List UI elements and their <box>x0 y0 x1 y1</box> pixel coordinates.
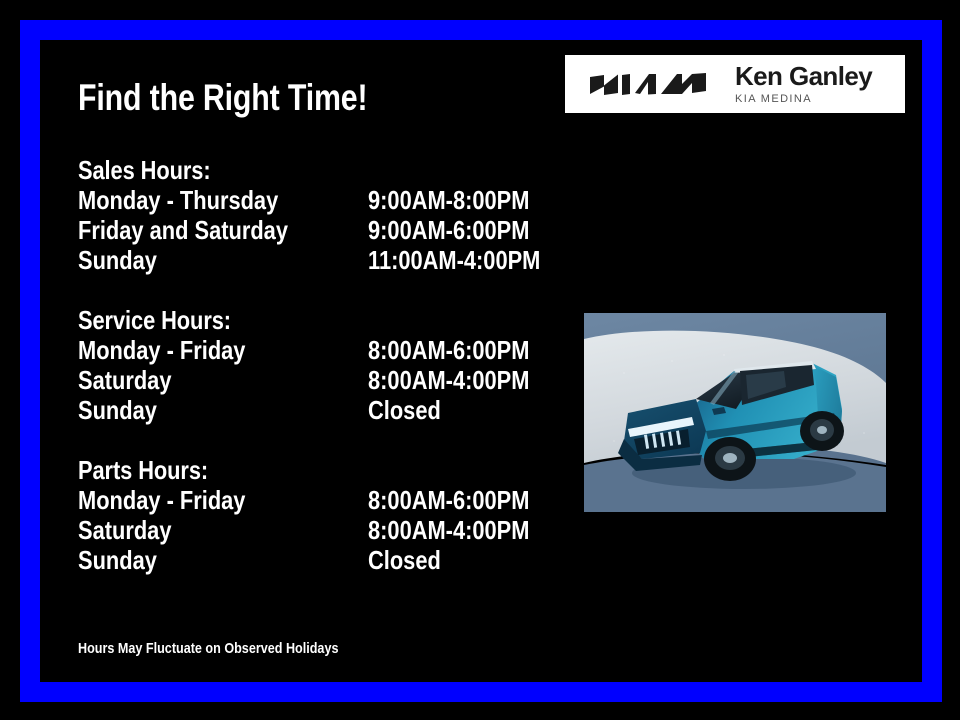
hours-row-value: 8:00AM-4:00PM <box>368 515 529 545</box>
hours-row: Saturday 8:00AM-4:00PM <box>78 515 578 545</box>
hours-row-label: Sunday <box>78 245 157 275</box>
hours-row-label: Saturday <box>78 365 171 395</box>
hours-row-label: Monday - Friday <box>78 485 245 515</box>
hours-row-value: Closed <box>368 545 441 575</box>
hours-row: Monday - Friday 8:00AM-6:00PM <box>78 485 578 515</box>
hours-row-value: 8:00AM-4:00PM <box>368 365 529 395</box>
hours-block-heading: Parts Hours: <box>78 455 498 485</box>
holiday-disclaimer: Hours May Fluctuate on Observed Holidays <box>78 640 338 658</box>
hours-row: Monday - Friday 8:00AM-6:00PM <box>78 335 578 365</box>
hours-row-label: Sunday <box>78 395 157 425</box>
hours-row: Friday and Saturday 9:00AM-6:00PM <box>78 215 578 245</box>
hours-row: Saturday 8:00AM-4:00PM <box>78 365 578 395</box>
dealer-name-group: Ken Ganley KIA MEDINA <box>735 63 872 106</box>
hours-block-sales: Sales Hours: Monday - Thursday 9:00AM-8:… <box>78 155 578 275</box>
dealer-logo-lockup: Ken Ganley KIA MEDINA <box>565 55 905 113</box>
hours-row-value: 8:00AM-6:00PM <box>368 485 529 515</box>
hours-row: Sunday Closed <box>78 545 578 575</box>
hours-block-service: Service Hours: Monday - Friday 8:00AM-6:… <box>78 305 578 425</box>
slide-content: Find the Right Time! Ken Ganley KIA MEDI… <box>40 40 922 682</box>
hours-row-value: 9:00AM-6:00PM <box>368 215 529 245</box>
dealer-subtitle: KIA MEDINA <box>735 92 872 106</box>
hours-row-label: Friday and Saturday <box>78 215 288 245</box>
slide-canvas: Find the Right Time! Ken Ganley KIA MEDI… <box>0 0 960 720</box>
hours-row-value: 11:00AM-4:00PM <box>368 245 540 275</box>
hours-row-value: 9:00AM-8:00PM <box>368 185 529 215</box>
hours-row: Sunday 11:00AM-4:00PM <box>78 245 578 275</box>
hours-row-label: Monday - Friday <box>78 335 245 365</box>
page-title: Find the Right Time! <box>78 78 367 118</box>
hours-row-label: Saturday <box>78 515 171 545</box>
hours-row: Sunday Closed <box>78 395 578 425</box>
kia-ev9-suv-photo <box>584 313 886 512</box>
dealer-name: Ken Ganley <box>735 63 872 90</box>
hours-row-label: Monday - Thursday <box>78 185 278 215</box>
hours-block-heading: Sales Hours: <box>78 155 498 185</box>
hours-row: Monday - Thursday 9:00AM-8:00PM <box>78 185 578 215</box>
hours-row-label: Sunday <box>78 545 157 575</box>
hours-list: Sales Hours: Monday - Thursday 9:00AM-8:… <box>78 155 578 575</box>
hours-block-parts: Parts Hours: Monday - Friday 8:00AM-6:00… <box>78 455 578 575</box>
hours-block-heading: Service Hours: <box>78 305 498 335</box>
kia-logo-icon <box>589 69 707 99</box>
hours-row-value: Closed <box>368 395 441 425</box>
hours-row-value: 8:00AM-6:00PM <box>368 335 529 365</box>
